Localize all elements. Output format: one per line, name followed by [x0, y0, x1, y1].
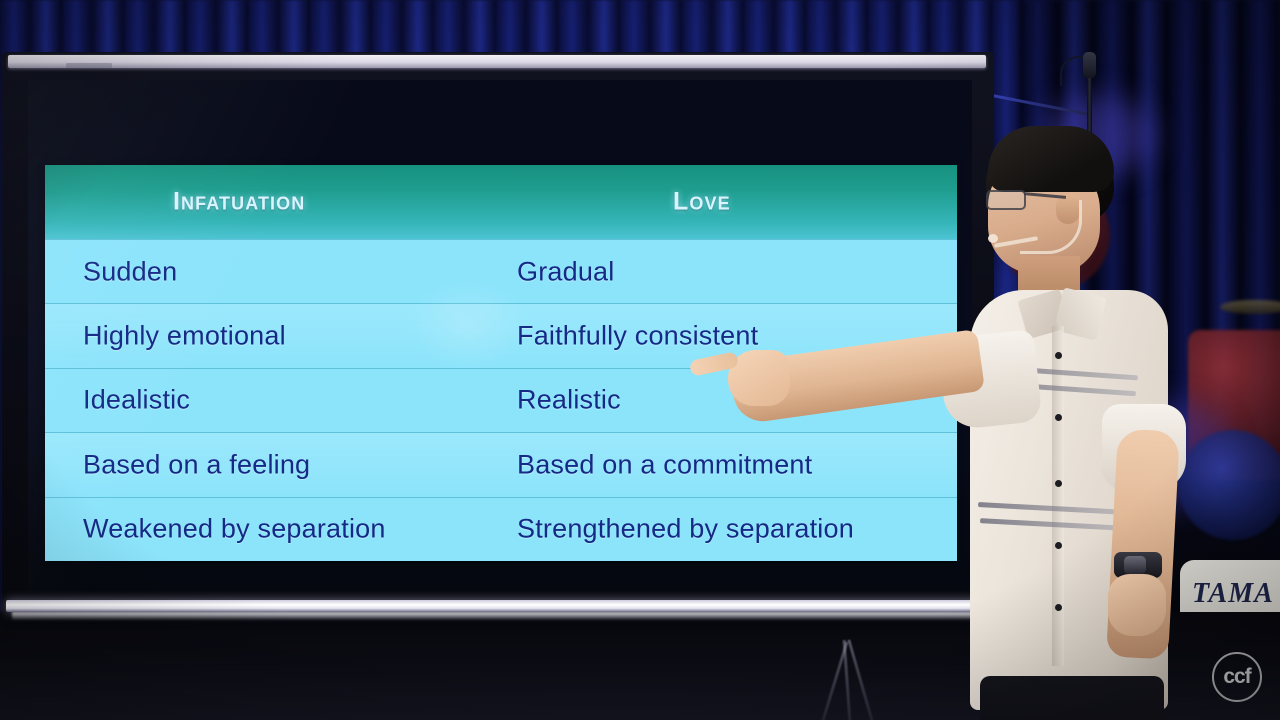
tv-brand-logo — [66, 63, 112, 68]
headset-microphone-capsule — [988, 234, 998, 243]
cell-infatuation: Weakened by separation — [83, 514, 386, 545]
column-header-infatuation: Infatuation — [173, 188, 305, 217]
tv-bottom-bezel-strip — [6, 600, 990, 612]
cell-infatuation: Idealistic — [83, 385, 190, 416]
shirt-button — [1055, 542, 1062, 549]
tv-bottom-lip — [12, 612, 982, 620]
cell-infatuation: Highly emotional — [83, 321, 286, 352]
shirt-button — [1055, 352, 1062, 359]
shirt-placket — [1052, 326, 1064, 666]
table-header-row: Infatuation Love — [45, 165, 957, 239]
cell-love: Faithfully consistent — [517, 321, 758, 352]
cell-infatuation: Sudden — [83, 256, 177, 287]
shirt-button — [1055, 480, 1062, 487]
table-row: Based on a feeling Based on a commitment — [45, 432, 957, 496]
cell-infatuation: Based on a feeling — [83, 449, 310, 480]
microphone-icon — [1083, 52, 1096, 78]
table-row: Sudden Gradual — [45, 239, 957, 303]
cell-love: Based on a commitment — [517, 449, 812, 480]
tv-top-bezel-strip — [8, 55, 986, 68]
broadcast-watermark-logo: ccf — [1212, 652, 1262, 702]
presentation-slide: Infatuation Love Sudden Gradual Highly e… — [28, 80, 972, 592]
stand-leg — [847, 639, 875, 720]
shirt-button — [1055, 604, 1062, 611]
shirt-button — [1055, 414, 1062, 421]
cell-love: Realistic — [517, 385, 621, 416]
presentation-screen-tv: Infatuation Love Sudden Gradual Highly e… — [2, 52, 994, 630]
cell-love: Gradual — [517, 256, 614, 287]
tv-screen: Infatuation Love Sudden Gradual Highly e… — [28, 80, 972, 592]
speaker-person — [960, 128, 1250, 720]
watermark-text: ccf — [1223, 666, 1250, 687]
speaker-right-hand — [1108, 574, 1166, 636]
column-header-love: Love — [673, 188, 731, 217]
cell-love: Strengthened by separation — [517, 514, 854, 545]
speaker-hair-top — [988, 126, 1114, 192]
speaker-trousers — [980, 676, 1164, 720]
table-row: Weakened by separation Strengthened by s… — [45, 497, 957, 561]
wristwatch-face — [1124, 556, 1146, 574]
